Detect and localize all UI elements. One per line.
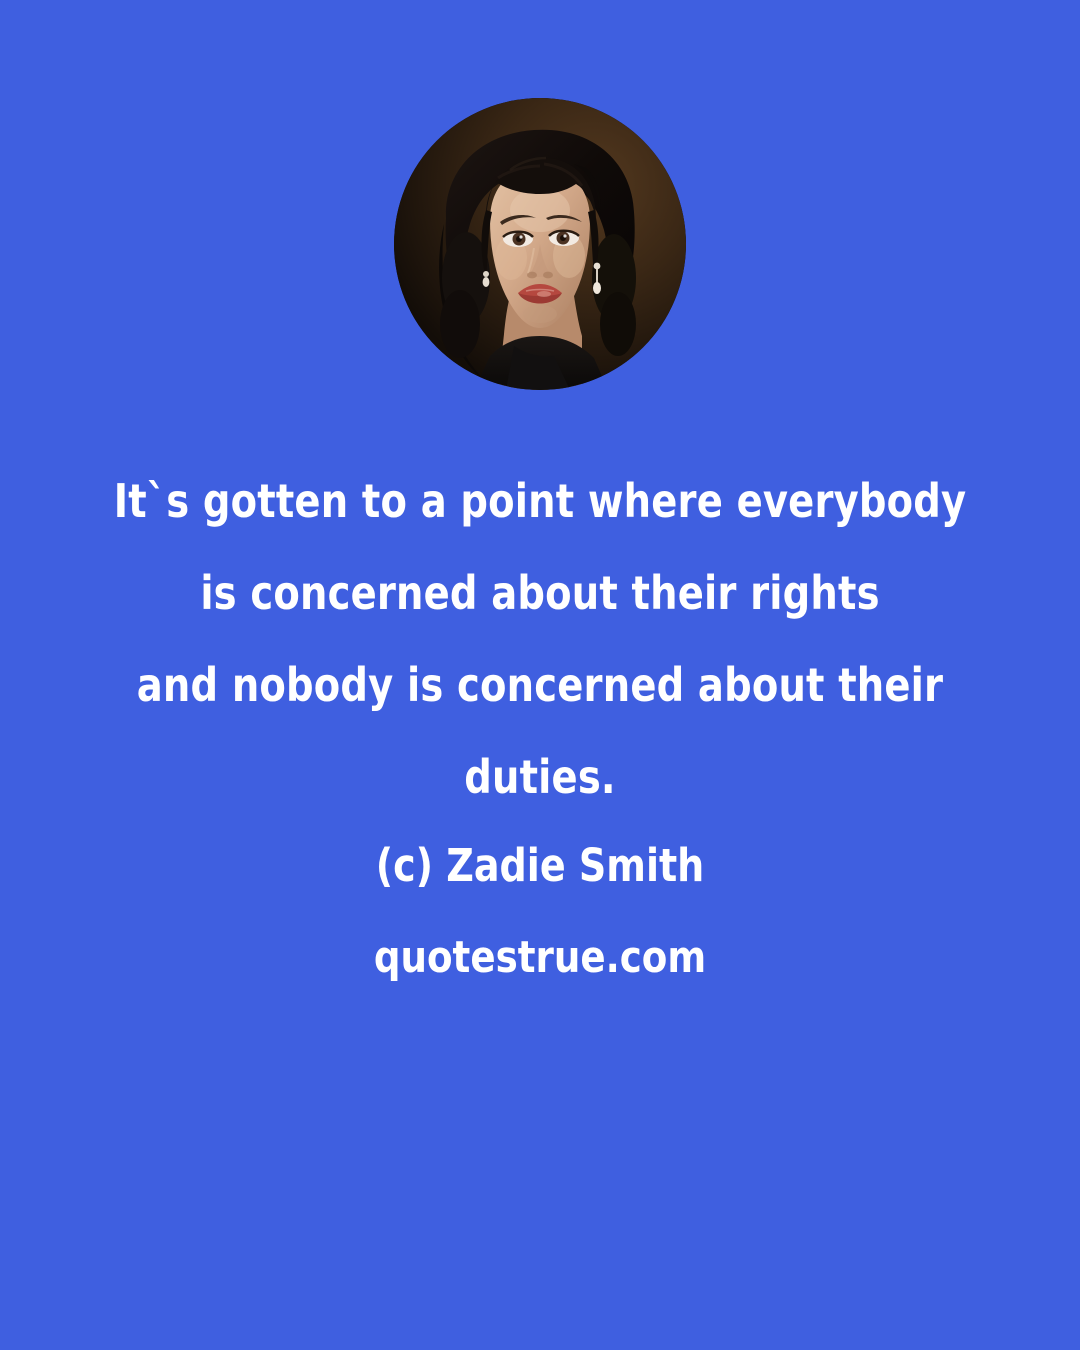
quote-card: It`s gotten to a point where everybody i… bbox=[0, 0, 1080, 1350]
quote-line: and nobody is concerned about their bbox=[38, 639, 1042, 731]
site-url[interactable]: quotestrue.com bbox=[32, 930, 1047, 986]
earring-left bbox=[483, 271, 490, 287]
avatar bbox=[394, 98, 686, 390]
eye-right bbox=[549, 230, 579, 246]
quote-line: duties. bbox=[38, 731, 1042, 823]
quote-line: is concerned about their rights bbox=[38, 547, 1042, 639]
portrait-image bbox=[394, 98, 686, 390]
quote-author: (c) Zadie Smith bbox=[32, 838, 1047, 894]
portrait-illustration bbox=[394, 98, 686, 390]
eye-left bbox=[503, 231, 533, 247]
quote-line: It`s gotten to a point where everybody bbox=[38, 455, 1042, 547]
quote-text: It`s gotten to a point where everybody i… bbox=[0, 455, 1080, 823]
